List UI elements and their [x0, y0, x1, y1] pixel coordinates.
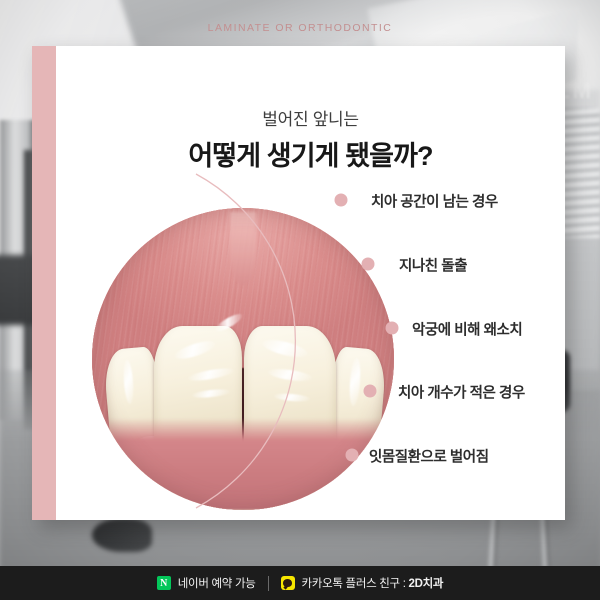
- card-sheet: 벌어진 앞니는 어떻게 생기게 됐을까?: [56, 46, 565, 520]
- cause-dot-1: [335, 194, 348, 207]
- cause-label-5: 잇몸질환으로 벌어짐: [369, 446, 489, 467]
- footer-divider: [268, 576, 269, 591]
- naver-reservation-group[interactable]: N 네이버 예약 가능: [157, 575, 256, 591]
- naver-icon: N: [157, 576, 171, 590]
- naver-label: 네이버 예약 가능: [178, 575, 256, 591]
- kakaotalk-icon: [281, 576, 295, 590]
- cause-label-3: 악궁에 비해 왜소치: [412, 319, 522, 340]
- kicker-text: LAMINATE OR ORTHODONTIC: [0, 22, 600, 34]
- kakao-label: 카카오톡 플러스 친구 : 2D치과: [302, 575, 444, 591]
- cause-label-4: 치아 개수가 적은 경우: [398, 382, 525, 403]
- cause-dot-5: [346, 449, 359, 462]
- cause-label-1: 치아 공간이 남는 경우: [371, 191, 498, 212]
- cause-dot-3: [386, 322, 399, 335]
- kakao-channel-group[interactable]: 카카오톡 플러스 친구 : 2D치과: [281, 575, 444, 591]
- kakao-label-clinic: 2D치과: [409, 578, 444, 590]
- cause-label-2: 지나친 돌출: [399, 255, 467, 276]
- footer-bar: N 네이버 예약 가능 카카오톡 플러스 친구 : 2D치과: [0, 566, 600, 600]
- kakao-label-prefix: 카카오톡 플러스 친구 :: [302, 578, 409, 590]
- cause-dot-4: [364, 385, 377, 398]
- cause-dot-2: [362, 258, 375, 271]
- content-card: 벌어진 앞니는 어떻게 생기게 됐을까?: [32, 46, 565, 520]
- accent-bar: [32, 46, 56, 520]
